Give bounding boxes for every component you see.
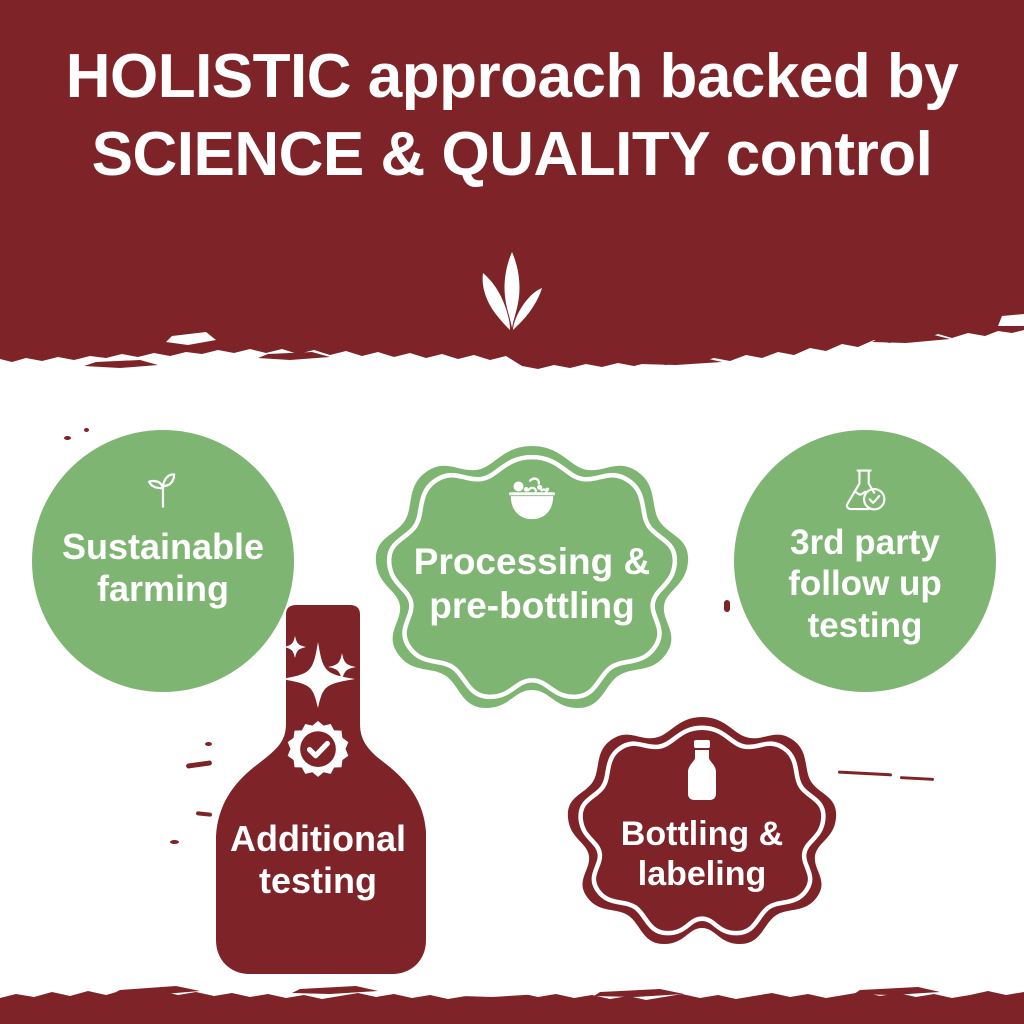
process-node-third-party-follow-up-testing[interactable]: 3rd party follow up testing — [734, 430, 996, 692]
process-node-bottling-labeling[interactable]: Bottling & labeling — [566, 712, 838, 974]
paint-speck — [64, 436, 71, 440]
flask-check-icon — [840, 464, 890, 516]
paint-speck — [84, 428, 89, 432]
bottom-torn-band — [0, 962, 1024, 1024]
seedling-icon — [139, 464, 187, 516]
paint-speck — [838, 771, 892, 777]
process-node-label: 3rd party follow up testing — [788, 522, 942, 646]
paint-speck — [900, 776, 934, 781]
process-node-additional-testing[interactable]: Additional testing — [202, 604, 434, 978]
header-band — [0, 0, 1024, 372]
process-node-label: Sustainable farming — [62, 526, 264, 611]
infographic-canvas: HOLISTIC approach backed by SCIENCE & QU… — [0, 0, 1024, 1024]
paint-speck — [170, 840, 179, 844]
paint-speck — [724, 600, 730, 612]
